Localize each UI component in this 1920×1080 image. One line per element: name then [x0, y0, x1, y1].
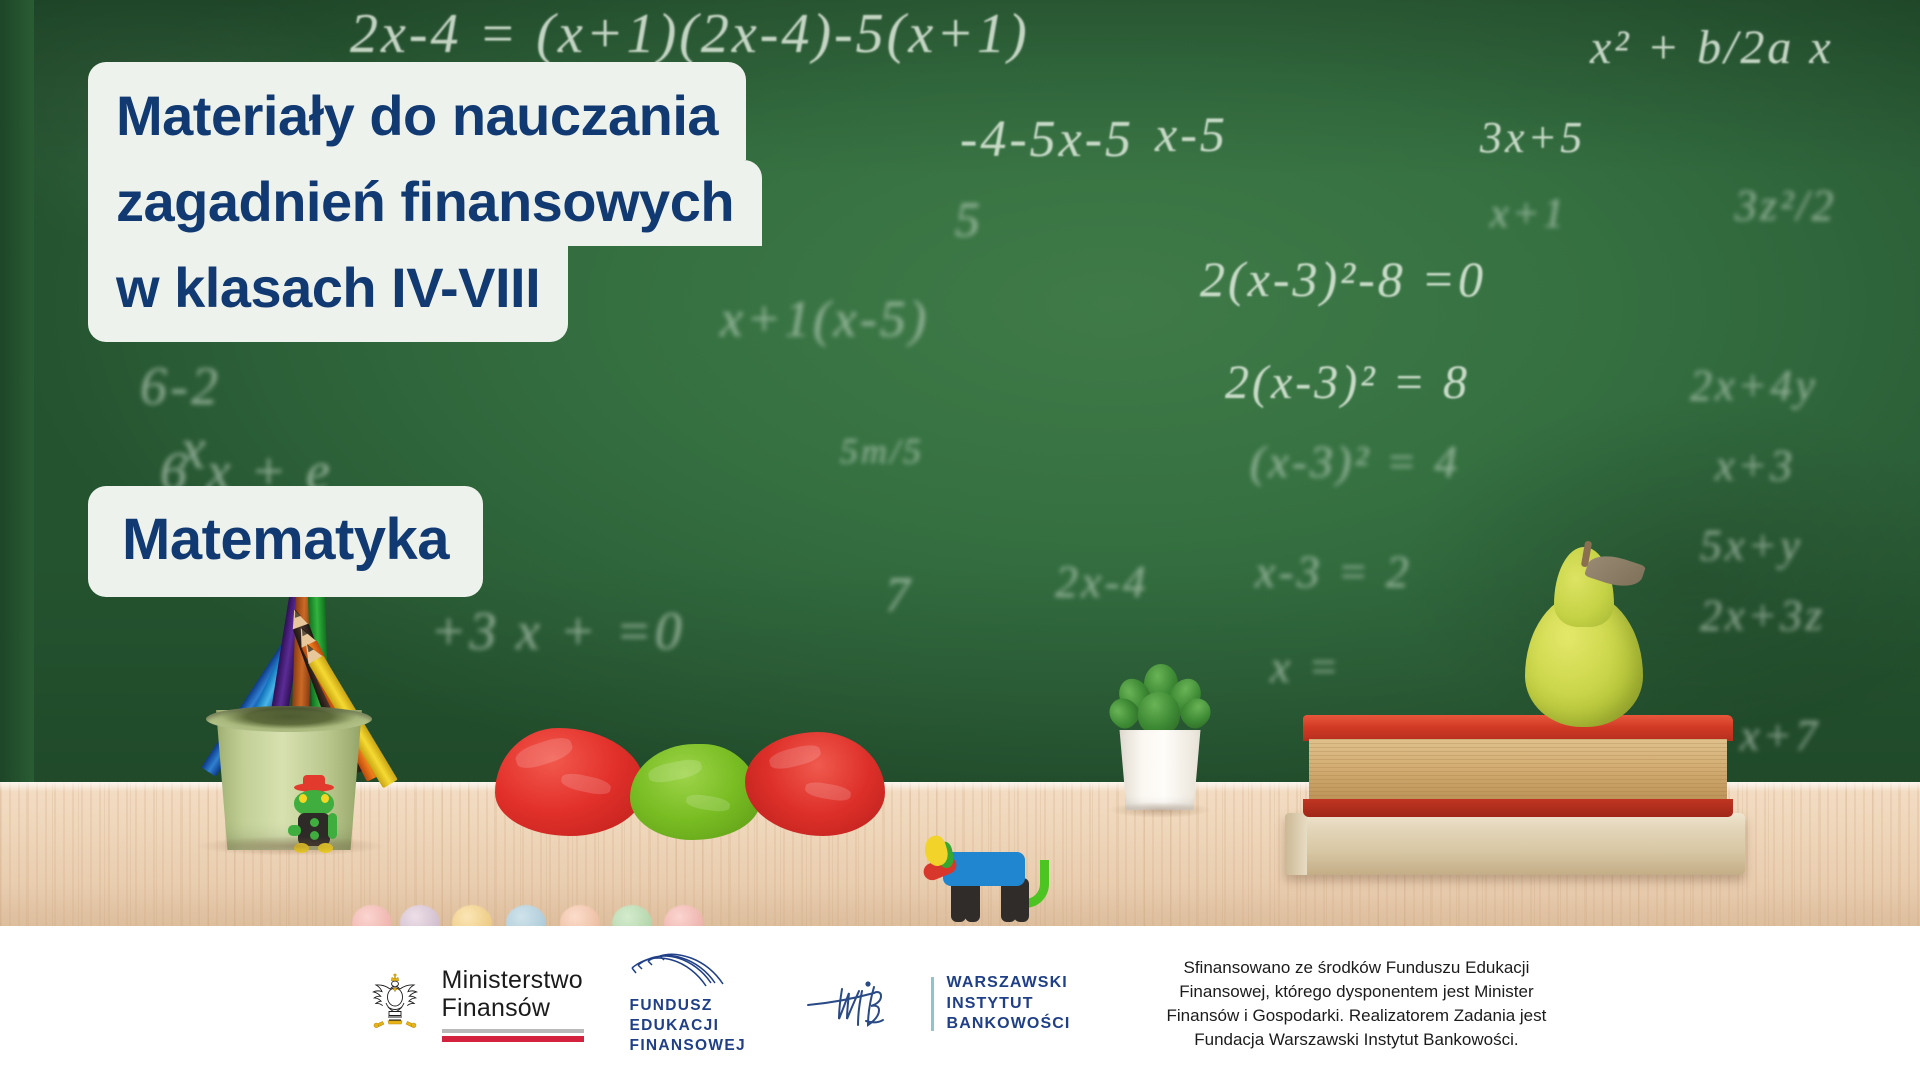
polish-eagle-emblem-icon	[364, 971, 426, 1037]
cup-shadow	[196, 836, 386, 856]
chalk-equation: 2(x-3)² = 8	[1225, 355, 1470, 410]
subject-badge: Matematyka	[88, 486, 483, 597]
wib-line-2: INSTYTUT	[947, 994, 1071, 1015]
wib-line-1: WARSZAWSKI	[947, 973, 1071, 994]
chalk-equation: -4-5x-5	[960, 110, 1134, 169]
chalk-equation: +3 x + =0	[430, 600, 685, 662]
chalk-equation: 2x-4	[1055, 555, 1149, 608]
chalk-equation: 5x+y	[1700, 520, 1803, 571]
chalk-equation: x =	[1270, 640, 1342, 693]
page-title: Materiały do nauczania zagadnień finanso…	[88, 62, 968, 342]
chalk-equation: x+1	[1490, 190, 1567, 238]
ministry-name-line2: Finansów	[442, 994, 584, 1022]
footer-bar: Ministerstwo Finansów	[0, 928, 1920, 1080]
funding-note: Sfinansowano ze środków Funduszu Edukacj…	[1156, 956, 1556, 1053]
fef-line-1: FUNDUSZ	[630, 996, 746, 1016]
plant-pot	[1116, 730, 1204, 810]
fef-logo: FUNDUSZ EDUKACJI FINANSOWEJ	[630, 952, 760, 1055]
chalk-equation: (x-3)² = 4	[1250, 435, 1460, 488]
chalk-equation: x+7	[1740, 710, 1820, 761]
ministry-of-finance-logo: Ministerstwo Finansów	[364, 966, 584, 1042]
chalk-equation: 7	[885, 565, 913, 623]
ministry-name-line1: Ministerstwo	[442, 966, 584, 994]
chalk-equation: 2(x-3)²-8 =0	[1200, 250, 1486, 308]
book-stack	[1285, 715, 1745, 920]
wib-line-3: BANKOWOŚCI	[947, 1014, 1071, 1035]
wib-divider	[931, 977, 934, 1031]
chalk-equation: x-5	[1155, 105, 1228, 163]
cup-rim	[206, 706, 372, 732]
polish-flag-bars	[442, 1029, 584, 1042]
chalk-equation: x+3	[1715, 440, 1795, 491]
title-line-1: Materiały do nauczania	[88, 62, 746, 160]
beige-book	[1285, 813, 1745, 875]
wib-signature-mark-icon	[806, 975, 918, 1033]
fef-line-2: EDUKACJI	[630, 1016, 746, 1036]
chalk-equation: 3x+5	[1480, 112, 1585, 163]
chalk-equation: 2x+3z	[1700, 590, 1825, 641]
pear	[1525, 547, 1643, 727]
title-line-2: zagadnień finansowych	[88, 160, 762, 246]
chalk-equation: x² + b/2a x	[1590, 20, 1834, 75]
crumpled-paper-green	[630, 744, 760, 840]
poster-stage: 2x-4 = (x+1)(2x-4)-5(x+1) -4-5x-5 5 x+1(…	[0, 0, 1920, 1080]
chalk-equation: 5m/5	[840, 430, 924, 472]
fef-wave-mark-icon	[630, 952, 754, 994]
chalk-equation: 6-2	[140, 355, 221, 417]
chalk-equation: 3z²/2	[1735, 180, 1837, 231]
chalk-equation: x-3 = 2	[1255, 545, 1412, 598]
hero-photo: 2x-4 = (x+1)(2x-4)-5(x+1) -4-5x-5 5 x+1(…	[0, 0, 1920, 928]
title-line-3: w klasach IV-VIII	[88, 246, 568, 342]
chalk-equation: 2x-4 = (x+1)(2x-4)-5(x+1)	[350, 2, 1030, 66]
plasticine-animal	[915, 838, 1055, 924]
red-book	[1303, 715, 1733, 821]
succulent-plant	[1100, 652, 1220, 820]
chalkboard-frame-left	[0, 0, 34, 800]
fef-line-3: FINANSOWEJ	[630, 1036, 746, 1056]
chalk-equation: 2x+4y	[1690, 360, 1818, 411]
wib-logo: WARSZAWSKI INSTYTUT BANKOWOŚCI	[806, 973, 1071, 1035]
pencil-cup	[190, 580, 390, 850]
